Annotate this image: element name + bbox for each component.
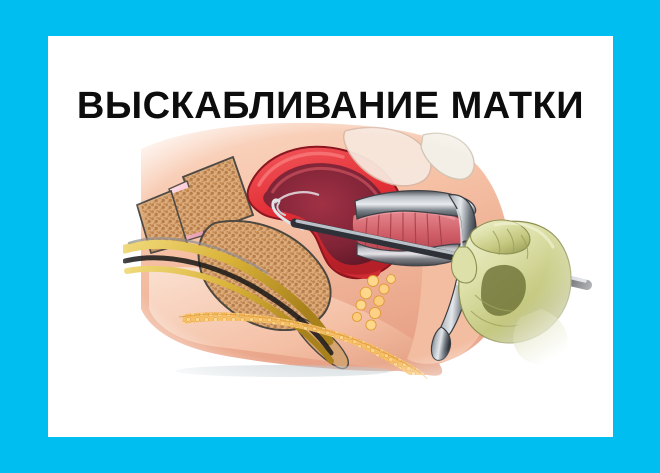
edge-fade-overlay [123, 119, 593, 379]
poster-root: ВЫСКАБЛИВАНИЕ МАТКИ [0, 0, 660, 473]
medical-illustration [123, 119, 593, 379]
uterine-curettage-illustration-svg [123, 119, 593, 379]
white-content-panel: ВЫСКАБЛИВАНИЕ МАТКИ [48, 36, 613, 437]
